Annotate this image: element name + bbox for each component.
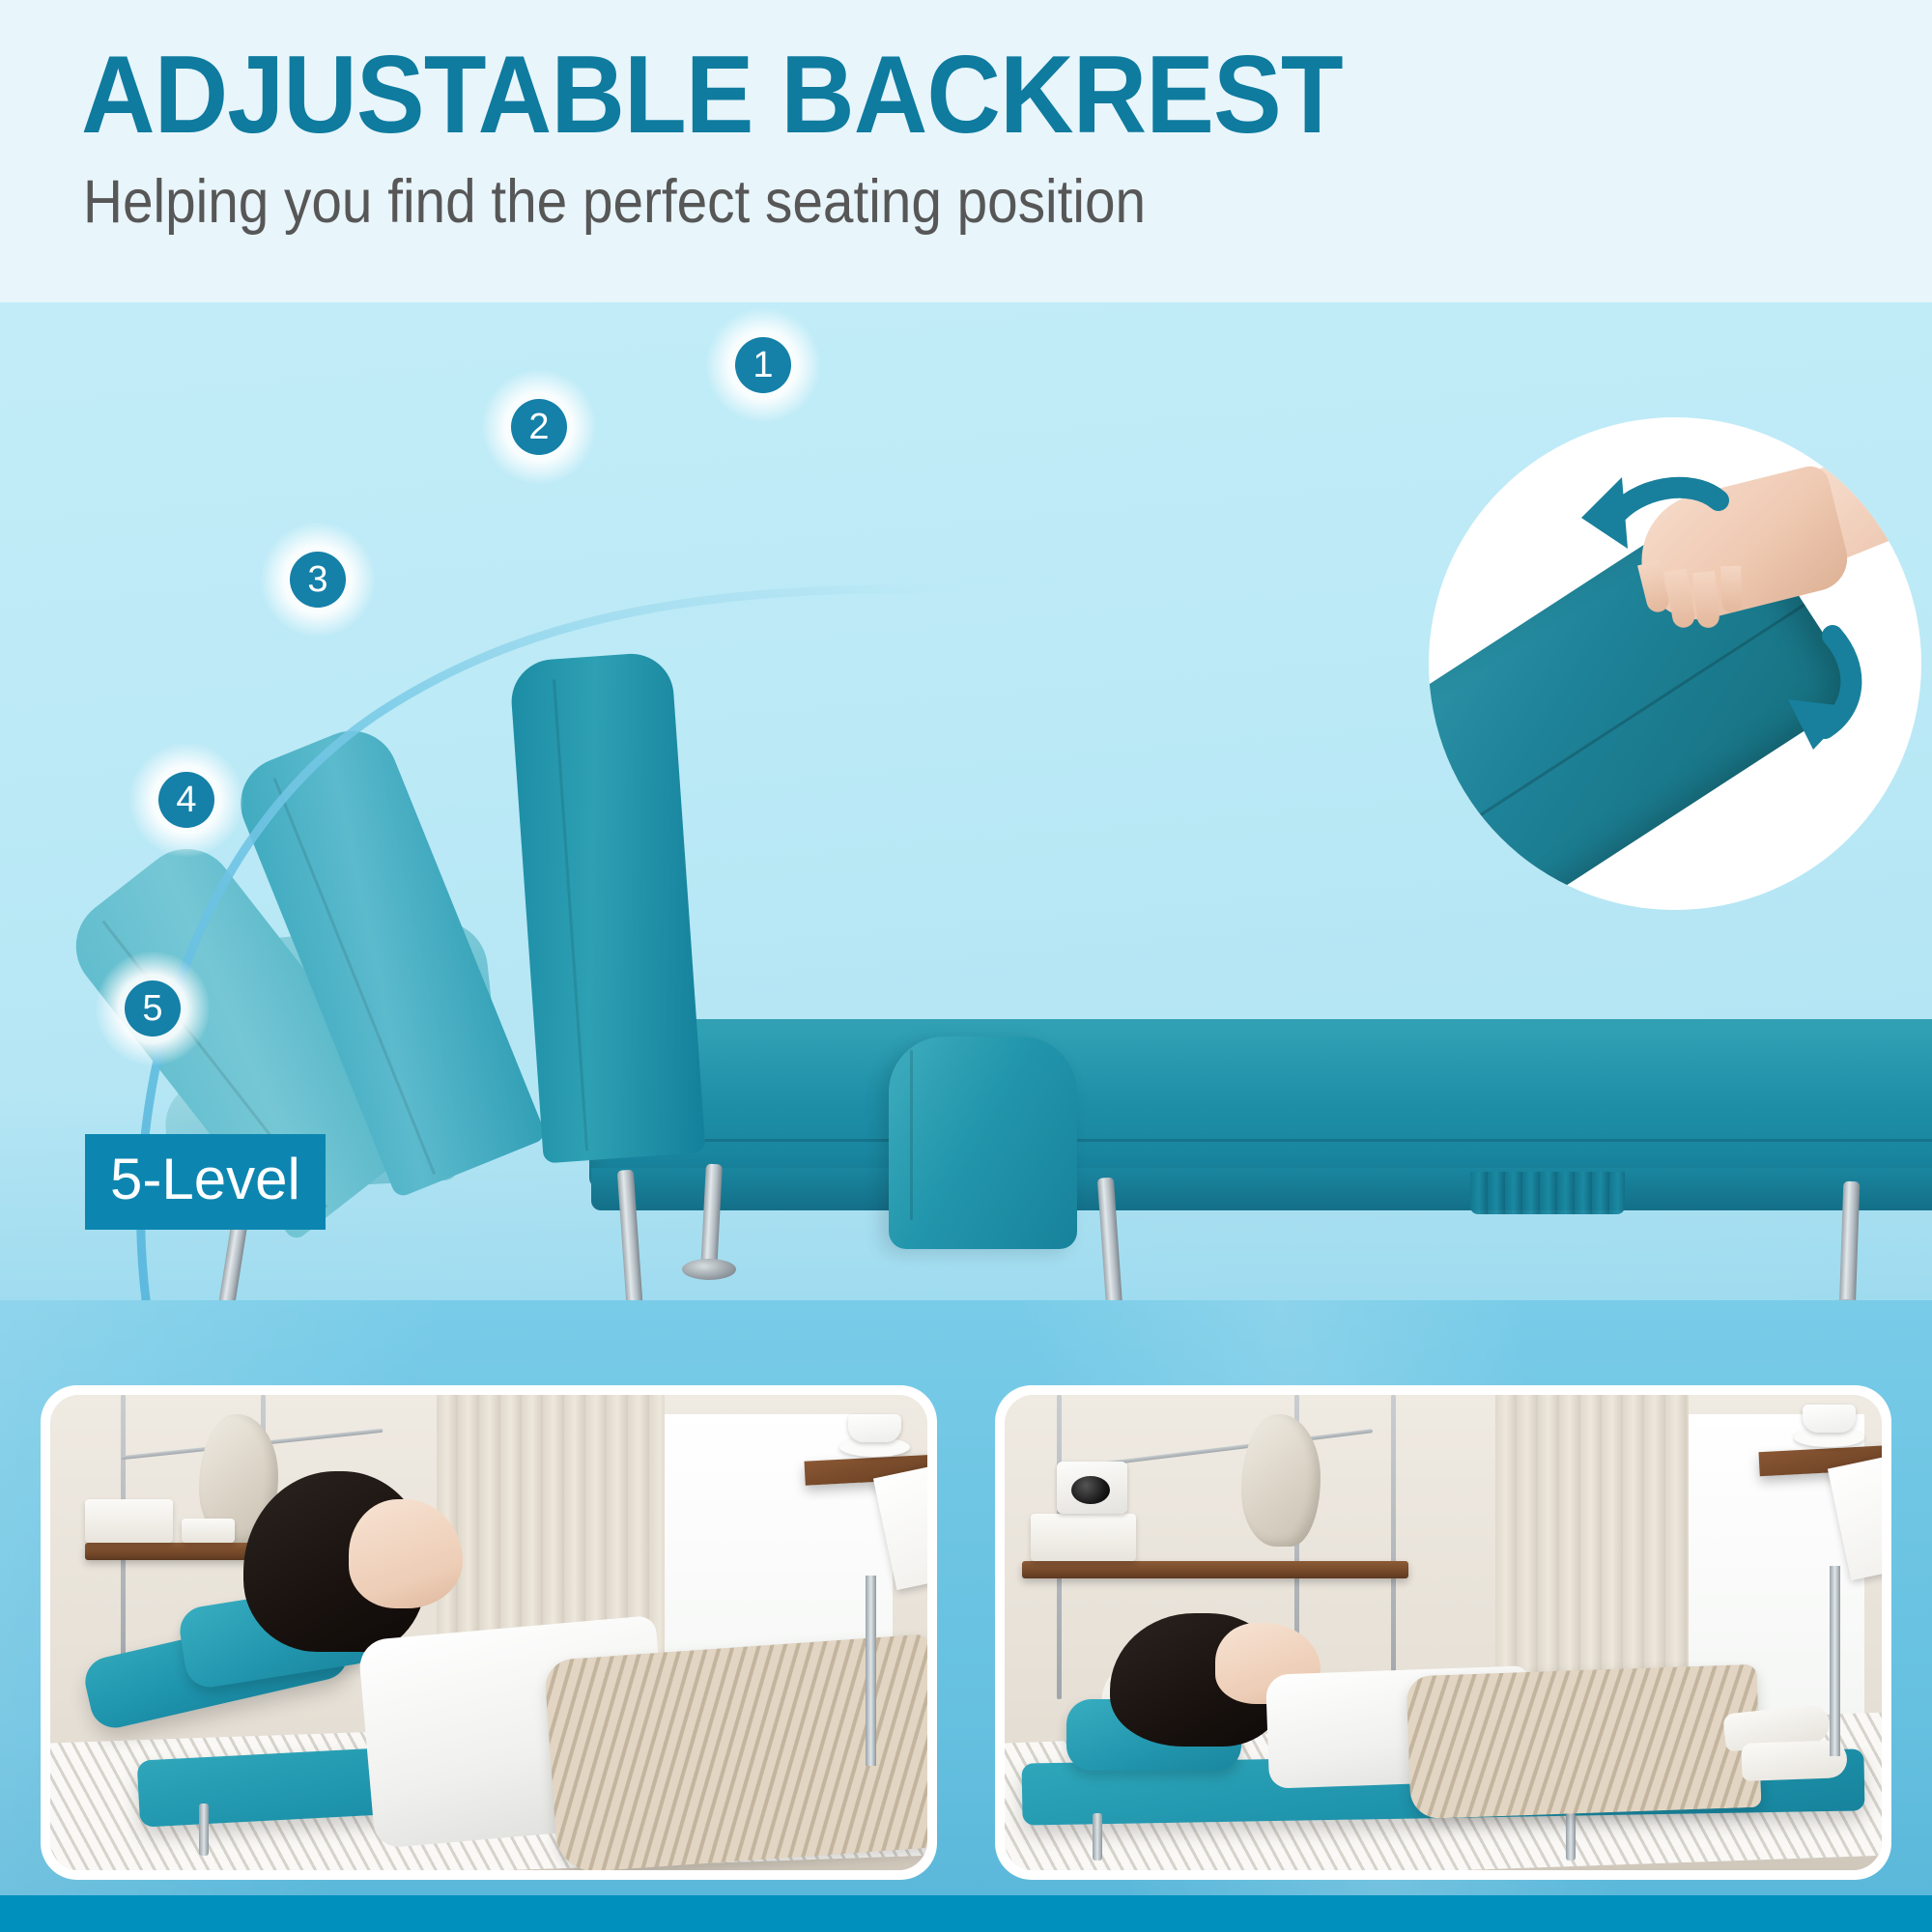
knit-blanket — [1406, 1664, 1761, 1819]
level-tag: 5-Level — [85, 1134, 326, 1230]
header-band: ADJUSTABLE BACKREST Helping you find the… — [0, 0, 1932, 302]
shelf-box-1 — [1031, 1514, 1136, 1561]
page-subtitle: Helping you find the perfect seating pos… — [83, 172, 1146, 233]
rotation-arrows — [1429, 417, 1921, 910]
position-badge-1[interactable]: 1 — [735, 337, 791, 393]
camera-lens-icon — [1071, 1476, 1110, 1505]
shelf-box-2 — [182, 1519, 234, 1543]
foot-pad-mid-back — [682, 1259, 736, 1280]
shelf-board — [1022, 1561, 1408, 1578]
shelf-box-1 — [85, 1499, 173, 1542]
bust-sculpture — [1241, 1414, 1321, 1548]
rotate-up-arrow — [1581, 477, 1719, 549]
photo-reclined-position — [50, 1395, 927, 1870]
tray-pole — [1830, 1566, 1840, 1756]
photo-card-reclined[interactable] — [41, 1385, 937, 1880]
position-badge-4[interactable]: 4 — [158, 772, 214, 828]
bolster-pillow — [889, 1037, 1077, 1249]
sofa-leg-right — [1566, 1813, 1576, 1861]
sofa-leg-left — [1093, 1813, 1102, 1861]
position-badge-2[interactable]: 2 — [511, 399, 567, 455]
coffee-cup — [848, 1414, 900, 1443]
coffee-cup — [1803, 1405, 1855, 1434]
photo-flat-position — [1005, 1395, 1882, 1870]
backrest-adjust-inset — [1429, 417, 1921, 910]
photo-card-flat[interactable] — [995, 1385, 1891, 1880]
sofa-leg-left — [199, 1804, 209, 1856]
bottom-accent-bar — [0, 1895, 1932, 1932]
rotate-down-arrow — [1788, 636, 1854, 750]
product-feature-poster: ADJUSTABLE BACKREST Helping you find the… — [0, 0, 1932, 1932]
position-badge-3[interactable]: 3 — [290, 552, 346, 608]
position-badge-5[interactable]: 5 — [125, 980, 181, 1037]
shelf-upright-right — [1391, 1395, 1396, 1699]
tray-pole — [866, 1576, 876, 1766]
page-title: ADJUSTABLE BACKREST — [81, 41, 1343, 151]
